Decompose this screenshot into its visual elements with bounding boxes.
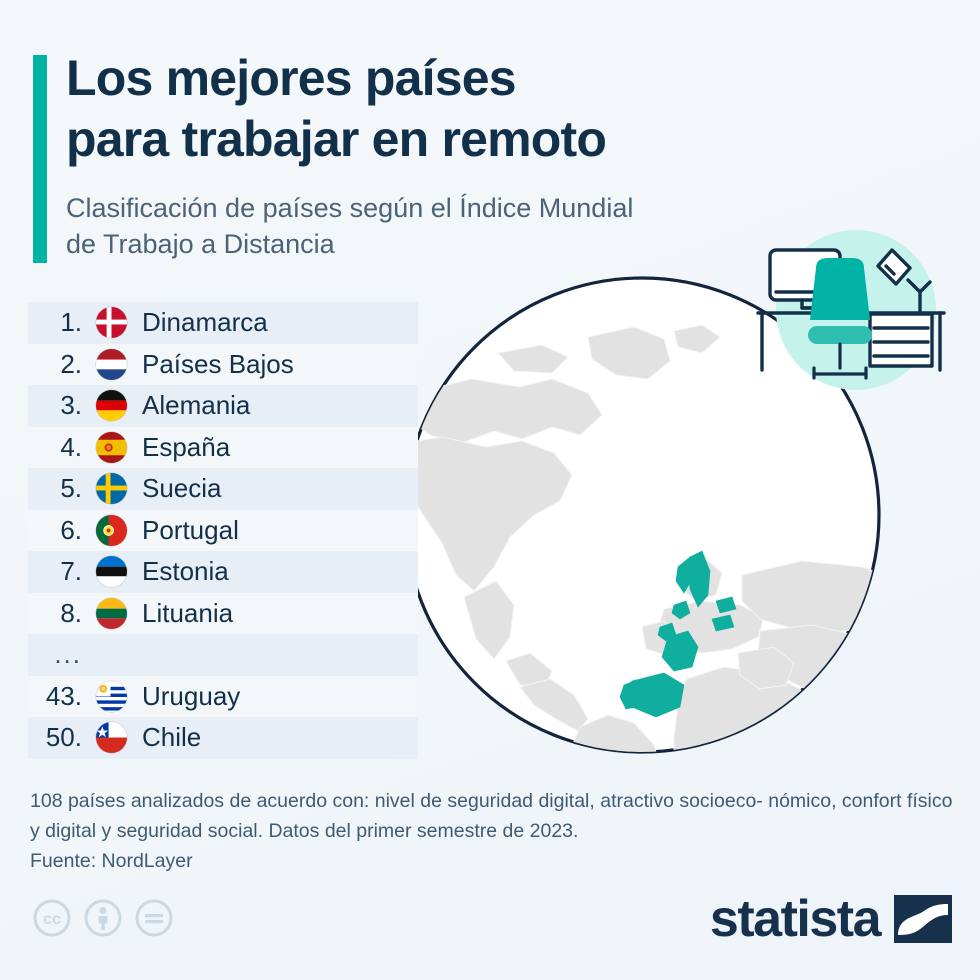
flag-spain-icon: [96, 432, 127, 463]
country-name: Suecia: [142, 473, 222, 504]
list-item[interactable]: 1. Dinamarca: [28, 302, 418, 344]
list-item[interactable]: 2. Países Bajos: [28, 344, 418, 386]
rank-number: 43.: [36, 681, 96, 712]
cc-by-person-icon: [83, 898, 123, 938]
remote-work-desk-illustration: [744, 228, 969, 403]
rank-number: 7.: [36, 556, 96, 587]
page-title: Los mejores países para trabajar en remo…: [66, 48, 786, 170]
country-name: España: [142, 432, 230, 463]
page-subtitle-line-2: de Trabajo a Distancia: [66, 226, 766, 262]
rank-number: 6.: [36, 515, 96, 546]
statista-logo: statista: [710, 893, 952, 945]
list-item[interactable]: 4. España: [28, 427, 418, 469]
flag-lithuania-icon: [96, 598, 127, 629]
rank-ellipsis: ...: [36, 639, 96, 670]
rank-number: 5.: [36, 473, 96, 504]
list-item[interactable]: 6. Portugal: [28, 510, 418, 552]
cc-nd-equals-icon: [134, 898, 174, 938]
page-subtitle-line-1: Clasificación de países según el Índice …: [66, 190, 766, 226]
rank-number: 1.: [36, 307, 96, 338]
list-item[interactable]: 50. Chile: [28, 717, 418, 759]
list-item-ellipsis: ...: [28, 634, 418, 676]
page-subtitle: Clasificación de países según el Índice …: [66, 190, 766, 262]
country-name: Lituania: [142, 598, 233, 629]
footnote-line-1: 108 países analizados de acuerdo con: ni…: [30, 790, 763, 812]
flag-estonia-icon: [96, 556, 127, 587]
svg-text:cc: cc: [43, 911, 61, 928]
country-name: Portugal: [142, 515, 239, 546]
footnote-source: Fuente: NordLayer: [30, 847, 955, 877]
flag-chile-icon: [96, 722, 127, 753]
rank-number: 50.: [36, 722, 96, 753]
flag-sweden-icon: [96, 473, 127, 504]
page-title-line-2: para trabajar en remoto: [66, 109, 786, 170]
rank-number: 8.: [36, 598, 96, 629]
flag-portugal-icon: [96, 515, 127, 546]
list-item[interactable]: 43. Uruguay: [28, 676, 418, 718]
country-ranking-list: 1. Dinamarca 2. Países Bajos 3. Alemania…: [28, 302, 418, 759]
list-item[interactable]: 3. Alemania: [28, 385, 418, 427]
flag-uruguay-icon: [96, 681, 127, 712]
cc-icon: cc: [32, 898, 72, 938]
country-name: Alemania: [142, 390, 250, 421]
infographic-canvas: Los mejores países para trabajar en remo…: [0, 0, 980, 980]
country-name: Uruguay: [142, 681, 240, 712]
rank-number: 2.: [36, 349, 96, 380]
flag-germany-icon: [96, 390, 127, 421]
flag-denmark-icon: [96, 307, 127, 338]
statista-wordmark: statista: [710, 893, 880, 945]
page-title-line-1: Los mejores países: [66, 48, 786, 109]
list-item[interactable]: 5. Suecia: [28, 468, 418, 510]
list-item[interactable]: 8. Lituania: [28, 593, 418, 635]
rank-number: 3.: [36, 390, 96, 421]
footnote: 108 países analizados de acuerdo con: ni…: [30, 787, 955, 876]
country-name: Dinamarca: [142, 307, 268, 338]
title-accent-bar: [33, 55, 47, 263]
country-name: Estonia: [142, 556, 229, 587]
list-item[interactable]: 7. Estonia: [28, 551, 418, 593]
country-name: Chile: [142, 722, 201, 753]
flag-netherlands-icon: [96, 349, 127, 380]
country-name: Países Bajos: [142, 349, 294, 380]
rank-number: 4.: [36, 432, 96, 463]
drawer-cabinet: [870, 314, 932, 366]
creative-commons-license: cc: [32, 898, 174, 938]
statista-mark-icon: [894, 895, 952, 943]
